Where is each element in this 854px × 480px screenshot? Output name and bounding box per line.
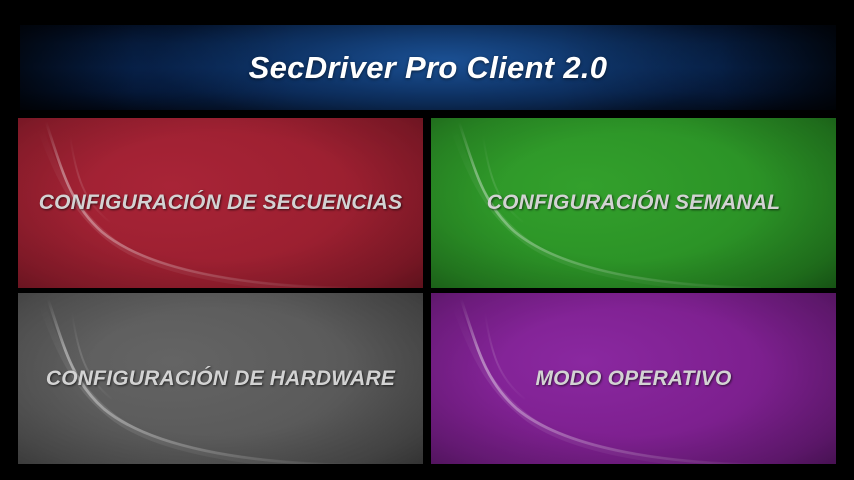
menu-tile-label-weekly-config: CONFIGURACIÓN SEMANAL bbox=[431, 191, 836, 215]
menu-tile-label-hardware-config: CONFIGURACIÓN DE HARDWARE bbox=[18, 367, 423, 391]
menu-tile-label-operating-mode: MODO OPERATIVO bbox=[431, 367, 836, 391]
menu-tile-grid: CONFIGURACIÓN DE SECUENCIAS bbox=[18, 118, 836, 464]
menu-tile-operating-mode[interactable]: MODO OPERATIVO bbox=[431, 293, 836, 464]
menu-tile-label-sequence-config: CONFIGURACIÓN DE SECUENCIAS bbox=[18, 191, 423, 215]
menu-tile-weekly-config[interactable]: CONFIGURACIÓN SEMANAL bbox=[431, 118, 836, 288]
app-header: SecDriver Pro Client 2.0 bbox=[20, 25, 836, 110]
page-title: SecDriver Pro Client 2.0 bbox=[20, 50, 836, 86]
app-root: SecDriver Pro Client 2.0 bbox=[0, 0, 854, 480]
menu-tile-hardware-config[interactable]: CONFIGURACIÓN DE HARDWARE bbox=[18, 293, 423, 464]
menu-tile-sequence-config[interactable]: CONFIGURACIÓN DE SECUENCIAS bbox=[18, 118, 423, 288]
